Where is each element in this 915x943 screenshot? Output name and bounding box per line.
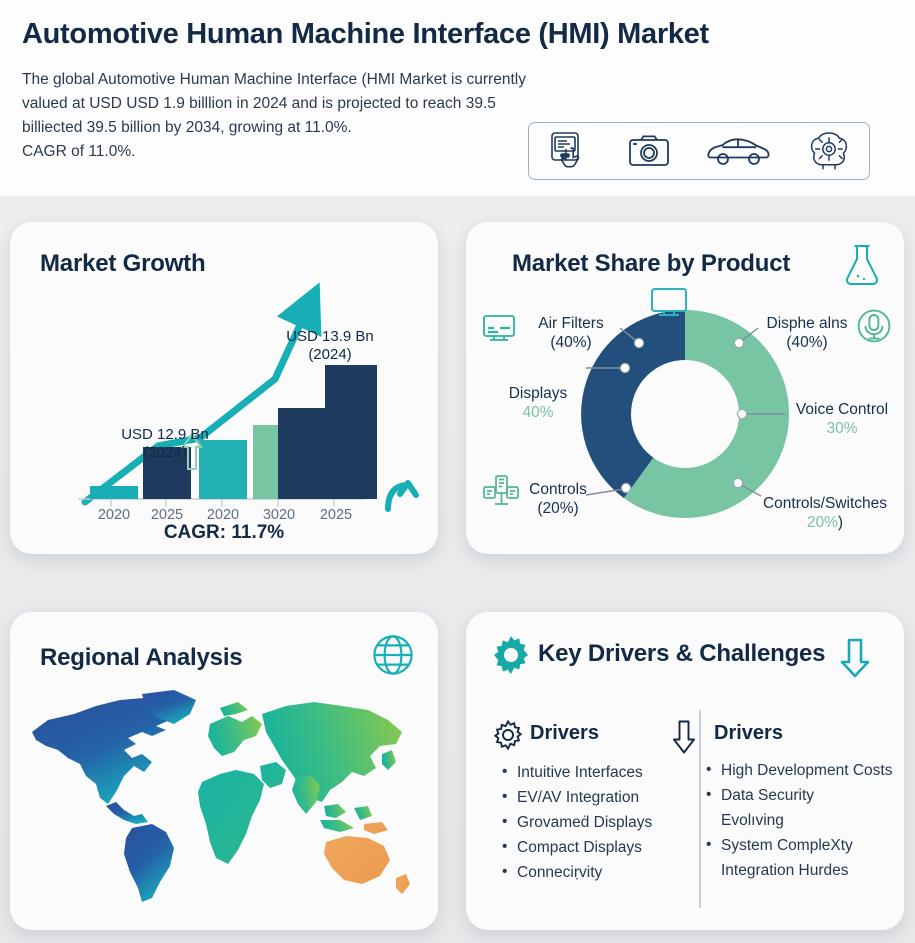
curved-up-arrow-icon: [388, 483, 416, 509]
list-item: Grovameḋ Displays: [502, 810, 702, 835]
pie-label-displays-name: Displays: [488, 384, 588, 403]
pie-label-displays: Displays 40%: [488, 384, 588, 423]
pie-label-air-filters-value: (40%): [506, 333, 636, 352]
card-regional-analysis: Regional Analysis: [10, 612, 438, 930]
drivers-left-heading: Drivers: [530, 722, 599, 745]
pie-label-controls-switches-value: 20%: [807, 514, 838, 531]
axis-tick-3: 3020: [251, 507, 307, 523]
pie-label-air-filters-name: Air Filters: [506, 314, 636, 333]
axis-tick-2: 2020: [195, 507, 251, 523]
list-item: High Development Costs: [706, 758, 906, 783]
annotation-low: USD 12.9 Bn (2024): [95, 426, 235, 463]
drivers-right-list: High Development Costs Data Security Evo…: [706, 758, 906, 884]
list-item: EV/AV Integration: [502, 785, 702, 810]
pie-label-displays-value: 40%: [488, 403, 588, 422]
card-market-share: Market Share by Product: [466, 222, 904, 554]
pie-label-voice-control: Voice Control 30%: [780, 400, 904, 439]
donut-hole: [631, 360, 739, 468]
drivers-right-heading: Drivers: [714, 722, 783, 745]
gear-outline-icon: [493, 720, 523, 755]
pie-label-voice-control-name: Voice Control: [780, 400, 904, 419]
brain-circuit-icon: [807, 129, 851, 173]
list-item: System CompleXty: [706, 833, 906, 858]
gear-icon: [492, 636, 530, 679]
pie-label-voice-control-value: 30%: [780, 419, 904, 438]
down-arrow-icon: [838, 638, 872, 683]
annotation-high: USD 13.9 Bn (2024): [255, 328, 405, 365]
infographic-page: Automotive Human Machine Interface (HMI)…: [0, 0, 915, 943]
list-item: Data Security: [706, 783, 906, 808]
world-map: [24, 680, 424, 908]
regional-analysis-title: Regional Analysis: [40, 644, 242, 672]
header-icon-bar: [528, 122, 870, 180]
annotation-low-line1: USD 12.9 Bn: [95, 426, 235, 444]
pie-label-controls-switches-paren: ): [838, 514, 843, 531]
market-growth-chart: [10, 222, 438, 554]
camera-icon: [627, 133, 671, 169]
list-item: Compact Displays: [502, 835, 702, 860]
pie-label-disphealns-value: (40%): [748, 333, 866, 352]
list-item: Conneciṛvity: [502, 860, 702, 885]
bar-0: [90, 486, 138, 499]
pie-label-controls-switches-value-row: 20%): [744, 513, 906, 532]
pie-label-disphealns: Disphe alns (40%): [748, 314, 866, 353]
pie-label-controls-name: Controls: [508, 480, 608, 499]
car-icon: [707, 134, 771, 168]
axis-tick-1: 2025: [139, 507, 195, 523]
down-arrow-outline-icon: [671, 720, 697, 759]
card-market-growth: Market Growth: [10, 222, 438, 554]
header: Automotive Human Machine Interface (HMI)…: [0, 0, 915, 196]
pie-label-controls-switches-name: Controls/Switches: [744, 494, 906, 513]
globe-icon: [372, 634, 414, 681]
annotation-high-line1: USD 13.9 Bn: [255, 328, 405, 346]
pie-label-controls: Controls (20%): [508, 480, 608, 519]
card-key-drivers: Key Drivers & Challenges Drivers Intuiti…: [466, 612, 904, 930]
axis-tick-4: 2025: [308, 507, 364, 523]
column-divider: [699, 710, 701, 908]
annotation-low-line2: (2024): [95, 444, 235, 462]
page-title: Automotive Human Machine Interface (HMI)…: [22, 18, 891, 51]
cagr-label: CAGR: 11.7%: [10, 522, 438, 544]
drivers-left-list: Intuitive Interfaces EV/AV Integration G…: [502, 760, 702, 886]
desktop-monitor-icon: [650, 287, 688, 326]
key-drivers-title: Key Drivers & Challenges: [538, 640, 825, 668]
pie-label-air-filters: Air Filters (40%): [506, 314, 636, 353]
list-item: Intuitive Interfaces: [502, 760, 702, 785]
bar-4: [278, 408, 326, 499]
pie-label-controls-switches: Controls/Switches 20%): [744, 494, 906, 533]
subtitle-line-1: The global Automotive Human Machine Inte…: [22, 68, 712, 92]
bar-5: [325, 365, 377, 499]
touchscreen-hand-icon: [547, 130, 591, 172]
axis-tick-0: 2020: [86, 507, 142, 523]
pie-label-controls-value: (20%): [508, 499, 608, 518]
list-item-continuation: Integration Hurdes: [706, 858, 906, 883]
list-item-continuation: Evolıving: [706, 808, 906, 833]
subtitle-line-2: valued at USD USD 1.9 billlion in 2024 a…: [22, 92, 712, 116]
annotation-high-line2: (2024): [255, 346, 405, 364]
pie-label-disphealns-name: Disphe alns: [748, 314, 866, 333]
